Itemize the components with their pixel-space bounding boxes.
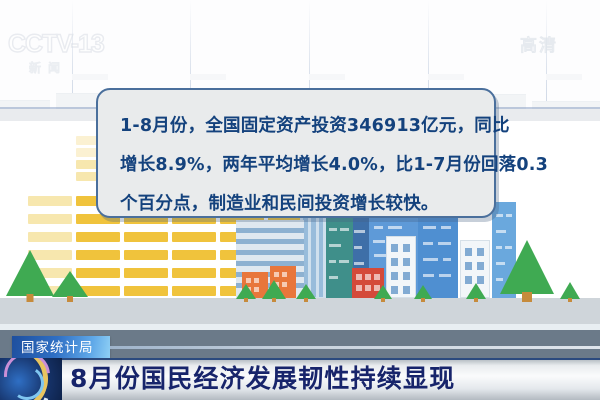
tree-small-right	[560, 282, 580, 302]
broadcast-frame: CCTV-13 新闻 高清	[0, 0, 600, 400]
tree-small-left	[52, 272, 88, 302]
caption-line-2: 增长8.9%，两年平均增长4.0%，比1-7月份回落0.3	[120, 146, 474, 185]
headline-text: 8月份国民经济发展韧性持续显现	[70, 359, 455, 399]
tree-mid-f	[466, 283, 486, 302]
channel-logo: CCTV-13 新闻	[8, 30, 108, 76]
tree-mid-d	[374, 285, 392, 302]
source-badge: 国家统计局	[12, 336, 110, 358]
channel-logo-text: CCTV-13	[8, 30, 108, 58]
caption-bubble: 1-8月份，全国固定资产投资346913亿元，同比 增长8.9%，两年平均增长4…	[96, 88, 496, 218]
tree-large-left	[6, 250, 54, 302]
network-swirl-graphic	[0, 358, 62, 400]
tree-mid-b	[262, 280, 286, 302]
caption-line-1: 1-8月份，全国固定资产投资346913亿元，同比	[120, 107, 474, 146]
caption-line-3: 个百分点，制造业和民间投资增长较快。	[120, 185, 474, 224]
lower-third: 国家统计局 8月份国民经济发展韧性持续显现	[0, 332, 600, 400]
hd-watermark: 高清	[520, 31, 558, 56]
channel-logo-subtitle: 新闻	[8, 59, 108, 76]
tree-mid-e	[414, 285, 432, 302]
tree-large-right	[500, 240, 554, 302]
tree-mid-c	[296, 284, 316, 302]
tree-mid-a	[236, 284, 256, 302]
badge-divider-rule	[110, 346, 600, 349]
